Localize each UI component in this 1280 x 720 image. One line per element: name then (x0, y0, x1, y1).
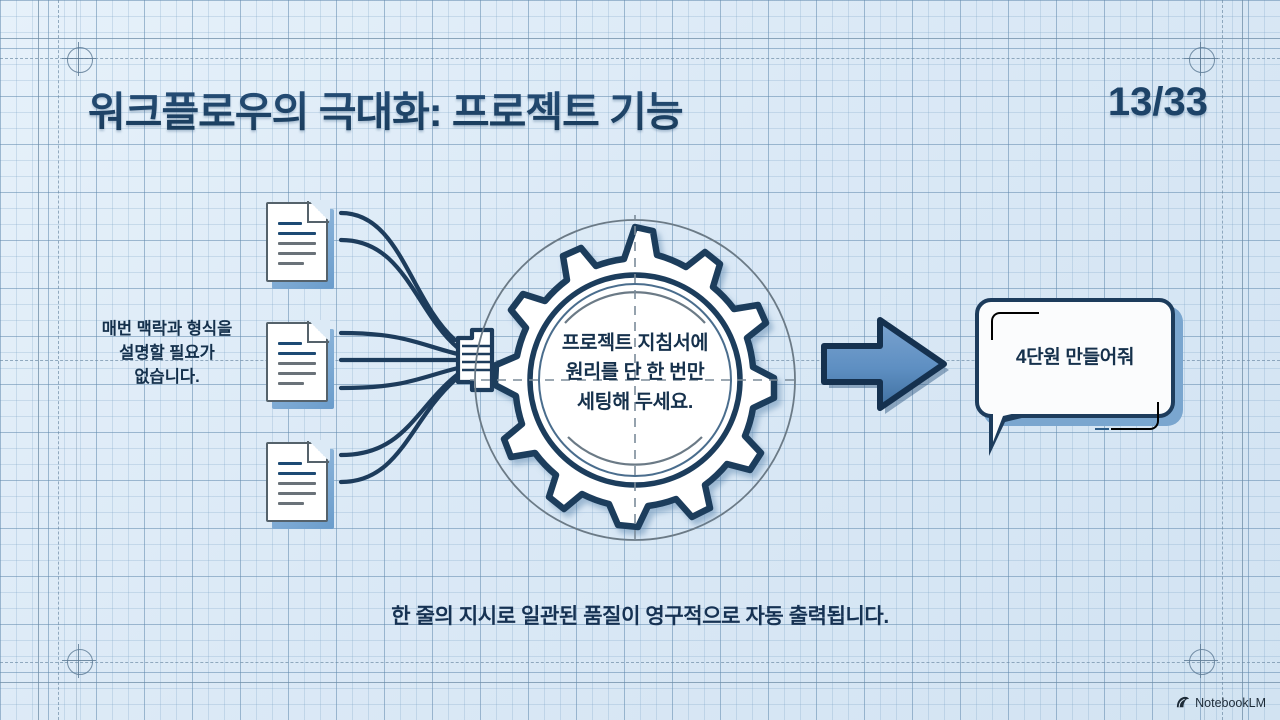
watermark: NotebookLM (1175, 695, 1266, 710)
gear-icon: 프로젝트 지침서에 원리를 단 한 번만 세팅해 두세요. (470, 215, 800, 545)
guide-line-dashed-top (0, 58, 1280, 59)
bubble-bracket-bottom-right (1111, 402, 1159, 430)
document-icon-2 (266, 322, 328, 402)
left-note-line-1: 매번 맥락과 형식을 (72, 318, 262, 342)
page-number: 13/33 (1108, 80, 1208, 125)
guide-line-horizontal-bottom (0, 682, 1280, 683)
document-icon-3 (266, 442, 328, 522)
speech-bubble-icon: 4단원 만들어줘 (975, 298, 1175, 444)
gear-text-line-2: 원리를 단 한 번만 (470, 358, 800, 387)
bubble-text: 4단원 만들어줘 (975, 342, 1175, 369)
slide-canvas: 워크플로우의 극대화: 프로젝트 기능 13/33 매번 맥락과 형식을 설명할… (0, 0, 1280, 720)
document-icon-1 (266, 202, 328, 282)
page-title: 워크플로우의 극대화: 프로젝트 기능 (88, 78, 683, 138)
registration-mark-icon-bottom-left (62, 644, 96, 678)
gear-text: 프로젝트 지침서에 원리를 단 한 번만 세팅해 두세요. (470, 329, 800, 417)
guide-line-horizontal-top (0, 38, 1280, 39)
right-arrow-icon (818, 312, 950, 416)
left-note-line-2: 설명할 필요가 (72, 342, 262, 366)
left-note-line-3: 없습니다. (72, 366, 262, 390)
bubble-bracket-top-left (991, 312, 1039, 340)
registration-mark-icon-bottom-right (1184, 644, 1218, 678)
bubble-bracket-dash (1095, 428, 1109, 430)
gear-text-line-1: 프로젝트 지침서에 (470, 329, 800, 358)
gear-text-line-3: 세팅해 두세요. (470, 388, 800, 417)
watermark-label: NotebookLM (1195, 696, 1266, 710)
guide-line-dashed-bottom (0, 662, 1280, 663)
registration-mark-icon-top-right (1184, 42, 1218, 76)
left-note: 매번 맥락과 형식을 설명할 필요가 없습니다. (72, 318, 262, 390)
registration-mark-icon-top-left (62, 42, 96, 76)
notebook-spiral-icon (1175, 695, 1190, 710)
bottom-caption: 한 줄의 지시로 일관된 품질이 영구적으로 자동 출력됩니다. (0, 600, 1280, 630)
